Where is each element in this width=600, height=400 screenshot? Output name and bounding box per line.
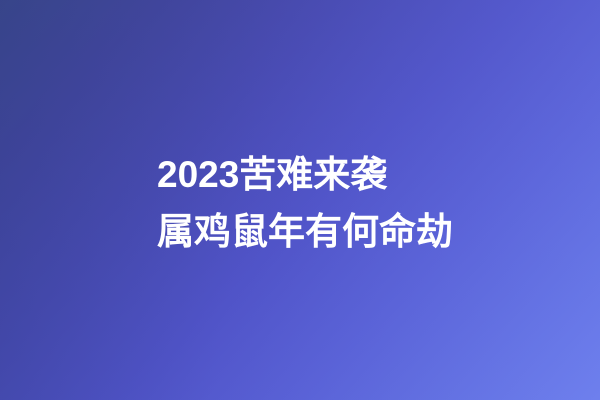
article-cover-banner: 2023苦难来袭 属鸡鼠年有何命劫 [0,0,600,400]
headline-text-block: 2023苦难来袭 属鸡鼠年有何命劫 [157,146,577,260]
headline-line-2: 属鸡鼠年有何命劫 [157,203,577,260]
headline-line-1: 2023苦难来袭 [157,146,577,203]
